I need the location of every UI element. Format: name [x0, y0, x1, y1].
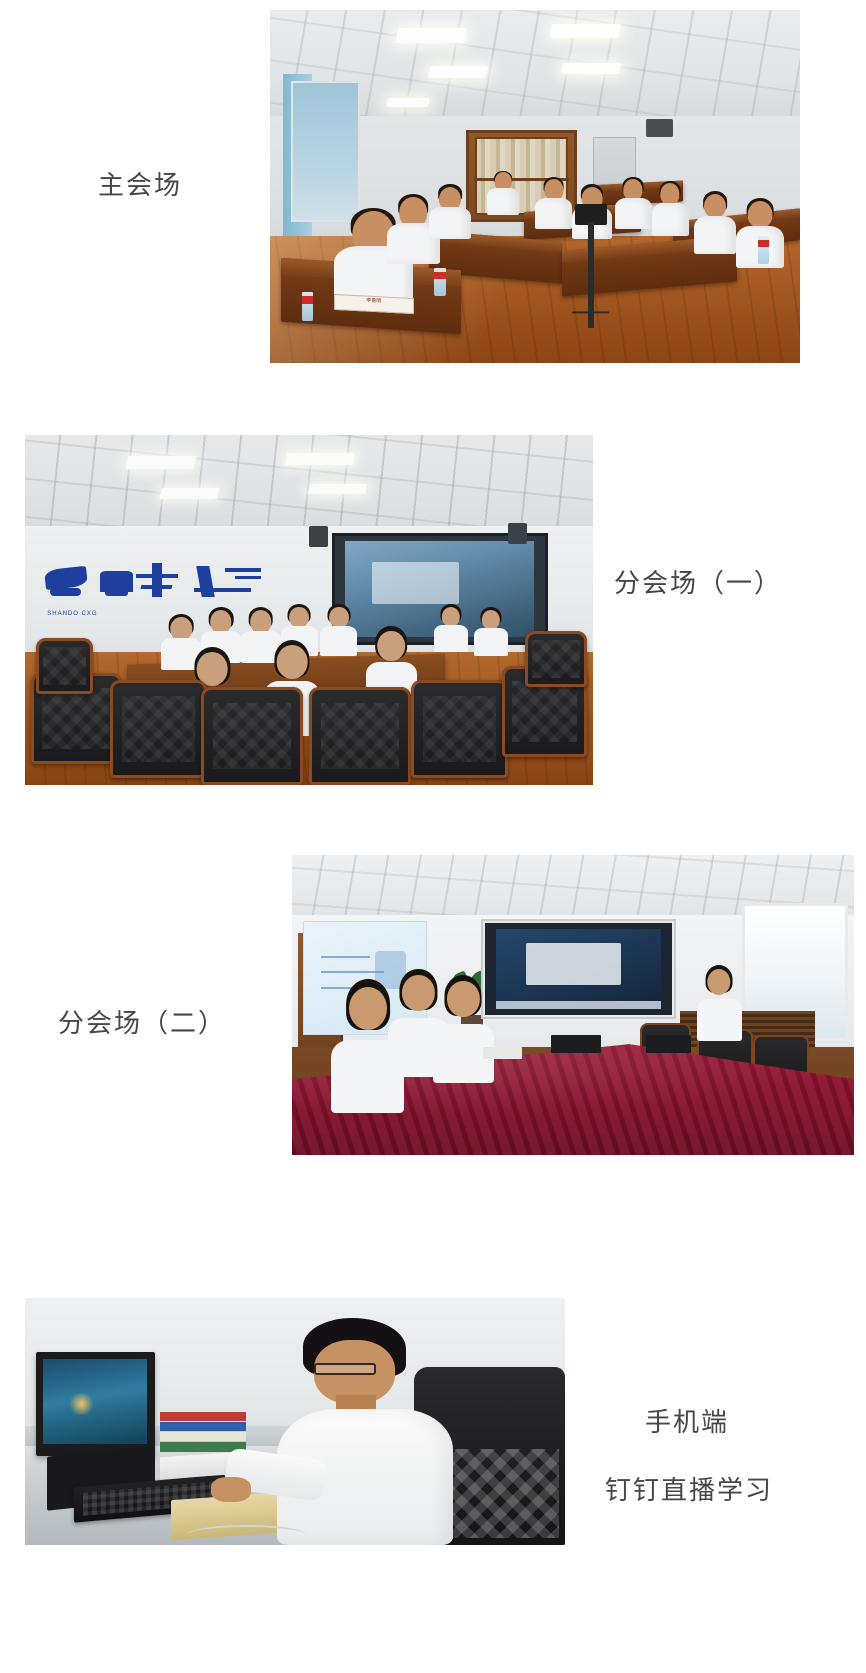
- photo-collage-page: 主会场: [0, 0, 866, 1673]
- sub-venue-1-scene: SHANDO CXG: [25, 435, 593, 785]
- caption-main-venue: 主会场: [98, 165, 182, 202]
- ceiling-light: [160, 488, 220, 499]
- photo-sub-venue-2: [292, 855, 854, 1155]
- ceiling-light: [550, 24, 621, 38]
- attendee: [433, 981, 495, 1083]
- attendee: [615, 179, 652, 228]
- main-venue-scene: 李喜明: [270, 10, 800, 363]
- projection-screen: [483, 921, 674, 1017]
- leather-chair: [110, 680, 207, 778]
- attendee: [697, 969, 742, 1041]
- window: [291, 81, 360, 222]
- camera-tripod: [588, 222, 594, 328]
- leather-chair: [36, 638, 93, 694]
- photo-mobile-dingtalk: [25, 1298, 565, 1545]
- wall-speaker: [508, 523, 527, 544]
- wall-speaker: [646, 119, 673, 137]
- photo-sub-venue-1: SHANDO CXG: [25, 435, 593, 785]
- ceiling-light: [428, 66, 489, 78]
- attendee: [652, 183, 689, 236]
- caption-sub-venue-1: 分会场（一）: [614, 563, 782, 600]
- water-bottle: [434, 268, 446, 296]
- computer-monitor: [36, 1352, 155, 1456]
- attendee: [487, 172, 519, 214]
- person-at-desk: [273, 1318, 457, 1545]
- leather-chair: [201, 687, 303, 785]
- leather-chair: [309, 687, 411, 785]
- attendee: [429, 187, 471, 240]
- sub-venue-2-scene: [292, 855, 854, 1155]
- mobile-dingtalk-scene: [25, 1298, 565, 1545]
- ceiling-light: [385, 98, 430, 107]
- attendee: [535, 179, 572, 228]
- laptop: [551, 1035, 602, 1053]
- caption-mobile-line2: 钉钉直播学习: [605, 1470, 773, 1507]
- leather-chair: [525, 631, 587, 687]
- photo-main-venue: 李喜明: [270, 10, 800, 363]
- attendee: [434, 607, 468, 653]
- laptop: [646, 1035, 691, 1053]
- wall-logo-subtext: SHANDO CXG: [47, 611, 97, 617]
- ceiling-light: [285, 453, 355, 465]
- eyeglasses: [314, 1363, 376, 1374]
- water-bottle: [302, 292, 314, 320]
- water-bottle: [758, 236, 770, 264]
- notepad: [483, 1047, 522, 1059]
- caption-sub-venue-2: 分会场（二）: [58, 1003, 226, 1040]
- ceiling-light: [308, 484, 367, 494]
- wall-speaker: [309, 526, 328, 547]
- caption-mobile-line1: 手机端: [645, 1402, 729, 1439]
- leather-chair: [411, 680, 508, 778]
- ceiling-light: [126, 456, 197, 469]
- ceiling-light: [560, 63, 620, 74]
- ceiling-light: [396, 28, 468, 43]
- cable: [187, 1525, 306, 1545]
- attendee: [474, 610, 508, 656]
- attendee: [694, 194, 736, 254]
- attendee: [320, 607, 357, 656]
